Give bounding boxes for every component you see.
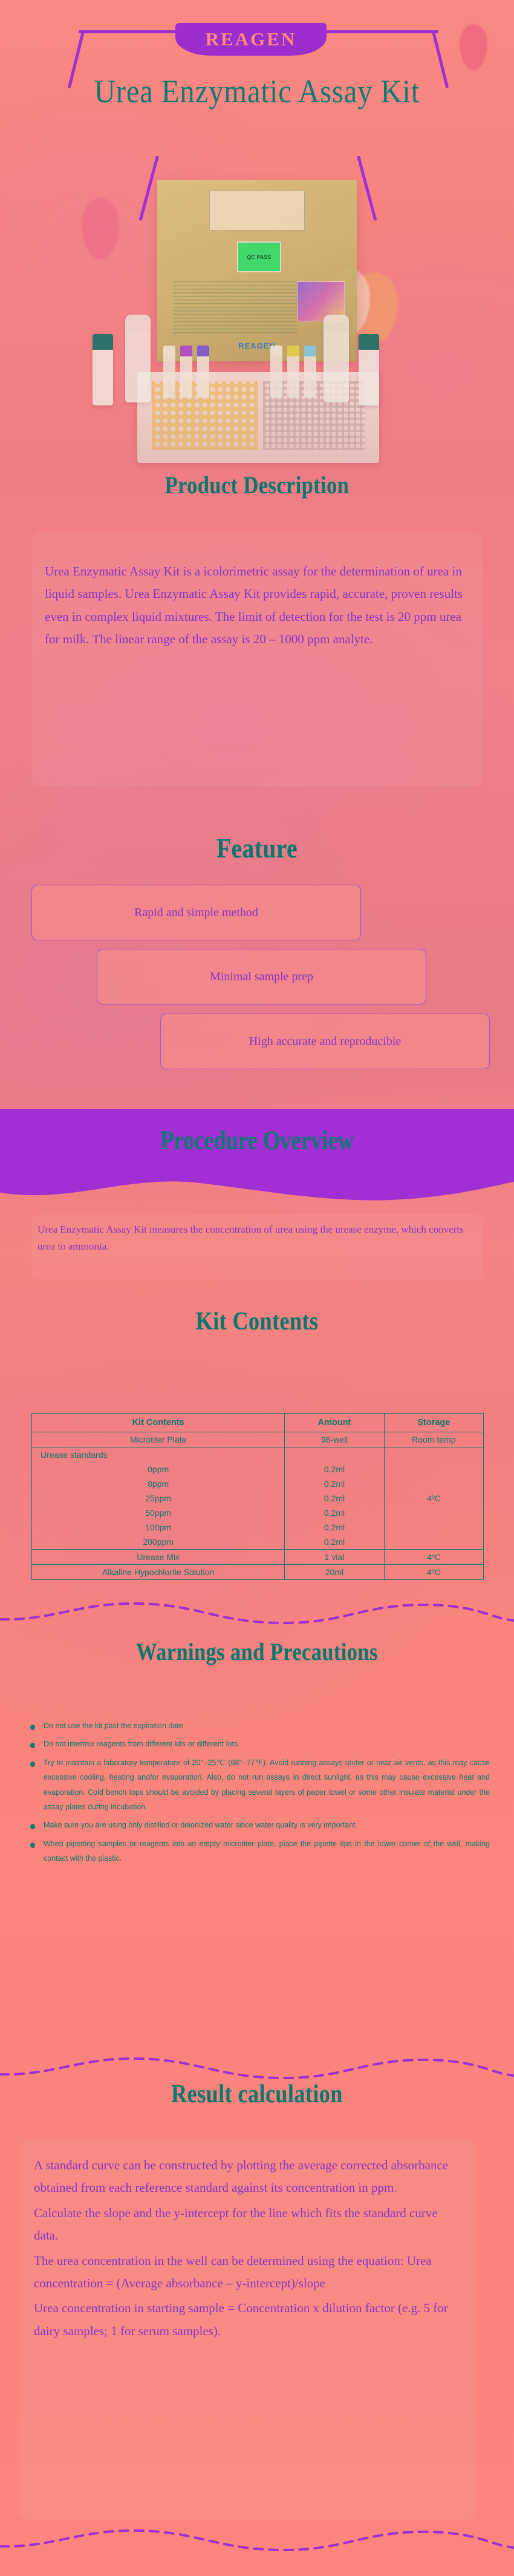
wave-divider-svg — [0, 2523, 514, 2557]
result-calculation-body: A standard curve can be constructed by p… — [34, 2154, 463, 2345]
procedure-overview-body: Urea Enzymatic Assay Kit measures the co… — [37, 1221, 467, 1254]
column-header-amount: Amount — [285, 1414, 384, 1432]
procedure-overview-banner: Procedure Overview — [0, 1109, 514, 1206]
feature-title: Feature — [36, 832, 478, 864]
cell-amount: 20ml — [285, 1565, 384, 1580]
cell-amount: 96-well — [285, 1432, 384, 1447]
result-calculation-title: Result calculation — [36, 2080, 478, 2109]
warning-item-text: Make sure you are using only distilled o… — [44, 1821, 357, 1829]
product-photo: QC PASS REAGEN — [70, 166, 444, 463]
mini-vial-4 — [270, 346, 282, 398]
page-title: Urea Enzymatic Assay Kit — [26, 73, 489, 110]
wave-divider-top — [0, 1596, 514, 1630]
wave-divider-svg — [0, 1596, 514, 1630]
feature-item-1: Rapid and simple method — [31, 885, 361, 940]
column-header-storage: Storage — [384, 1414, 483, 1432]
cell-name: 25ppm — [32, 1491, 285, 1506]
table-row: Urease standards 4ºC — [32, 1447, 484, 1463]
table-row: Urease Mix 1 vial 4ºC — [32, 1550, 484, 1565]
warning-item: Make sure you are using only distilled o… — [16, 1818, 499, 1832]
warning-item-text: Do not intermix reagents from different … — [44, 1740, 240, 1748]
warning-item-text: When pipetting samples or reagents into … — [44, 1840, 490, 1863]
feature-item-2: Minimal sample prep — [97, 949, 426, 1005]
cell-storage: 4ºC — [384, 1565, 483, 1580]
dropper-bottle-right — [324, 315, 349, 402]
qc-pass-label: QC PASS — [247, 254, 271, 260]
result-paragraph: The urea concentration in the well can b… — [34, 2250, 463, 2295]
feature-item-2-label: Minimal sample prep — [210, 970, 313, 984]
mini-vial-1 — [163, 346, 175, 398]
mini-vial-2 — [180, 346, 192, 398]
table-row: Alkaline Hypochlorite Solution 20ml 4ºC — [32, 1565, 484, 1580]
kit-contents-table: Kit Contents Amount Storage Microtiter P… — [31, 1413, 484, 1580]
cell-name: 8ppm — [32, 1476, 285, 1491]
table-row: Microtiter Plate 96-well Room temp — [32, 1432, 484, 1447]
feature-item-3-label: High accurate and reproducible — [249, 1035, 402, 1049]
warning-item: When pipetting samples or reagents into … — [16, 1837, 499, 1866]
kit-box-label — [209, 191, 305, 231]
table-header-row: Kit Contents Amount Storage — [32, 1414, 484, 1432]
warning-item-text: Do not use the kit past the expiration d… — [44, 1722, 185, 1730]
balloon-decor-left — [82, 198, 119, 260]
brand-name: REAGEN — [206, 28, 297, 50]
wave-divider-bottom — [0, 2523, 514, 2557]
kit-contents-title: Kit Contents — [36, 1307, 478, 1336]
warning-item-text: Try to maintain a laboratory temperature… — [44, 1758, 490, 1811]
cell-amount: 0.2ml — [285, 1506, 384, 1520]
cell-storage: Room temp — [384, 1432, 483, 1447]
balloon-decor-right — [460, 24, 487, 70]
warning-item: Do not use the kit past the expiration d… — [16, 1719, 499, 1733]
cell-name: 50ppm — [32, 1506, 285, 1520]
warning-item: Do not intermix reagents from different … — [16, 1737, 499, 1751]
cell-name: 100pm — [32, 1520, 285, 1535]
reagent-vial-right — [359, 334, 379, 405]
cell-name: 200ppm — [32, 1535, 285, 1550]
cell-name: Urease Mix — [32, 1550, 285, 1565]
feature-item-1-label: Rapid and simple method — [134, 906, 258, 920]
procedure-overview-title: Procedure Overview — [44, 1125, 470, 1156]
cell-name: Urease standards — [32, 1447, 285, 1463]
cell-amount — [285, 1447, 384, 1463]
cell-storage: 4ºC — [384, 1550, 483, 1565]
mini-vial-5 — [287, 346, 299, 398]
product-description-body: Urea Enzymatic Assay Kit is a icolorimet… — [45, 560, 468, 651]
mini-vial-6 — [304, 346, 316, 398]
reagent-vial-left — [93, 334, 113, 405]
feature-item-3: High accurate and reproducible — [160, 1014, 490, 1069]
result-paragraph: A standard curve can be constructed by p… — [34, 2154, 463, 2200]
column-header-name: Kit Contents — [32, 1414, 285, 1432]
cell-amount: 1 vial — [285, 1550, 384, 1565]
cell-name: Microtiter Plate — [32, 1432, 285, 1447]
qc-pass-badge: QC PASS — [237, 241, 281, 272]
warnings-title: Warnings and Precautions — [36, 1637, 478, 1666]
warning-item: Try to maintain a laboratory temperature… — [16, 1755, 499, 1815]
dropper-bottle-left — [125, 315, 151, 402]
kit-box-blurb — [173, 281, 297, 336]
brand-badge: REAGEN — [175, 23, 327, 56]
cell-amount: 0.2ml — [285, 1476, 384, 1491]
result-paragraph: Urea concentration in starting sample = … — [34, 2297, 463, 2342]
cell-name: Alkaline Hypochlorite Solution — [32, 1565, 285, 1580]
result-paragraph: Calculate the slope and the y-intercept … — [34, 2202, 463, 2247]
cell-amount: 0.2ml — [285, 1462, 384, 1476]
cell-storage: 4ºC — [384, 1447, 483, 1550]
product-description-title: Product Description — [36, 471, 478, 499]
cell-amount: 0.2ml — [285, 1535, 384, 1550]
cell-amount: 0.2ml — [285, 1491, 384, 1506]
header-area: REAGEN Urea Enzymatic Assay Kit — [0, 0, 514, 182]
cell-name: 0ppm — [32, 1462, 285, 1476]
warnings-list: Do not use the kit past the expiration d… — [16, 1719, 499, 1869]
cell-amount: 0.2ml — [285, 1520, 384, 1535]
procedure-banner-wave — [0, 1177, 514, 1206]
mini-vial-3 — [197, 346, 209, 398]
